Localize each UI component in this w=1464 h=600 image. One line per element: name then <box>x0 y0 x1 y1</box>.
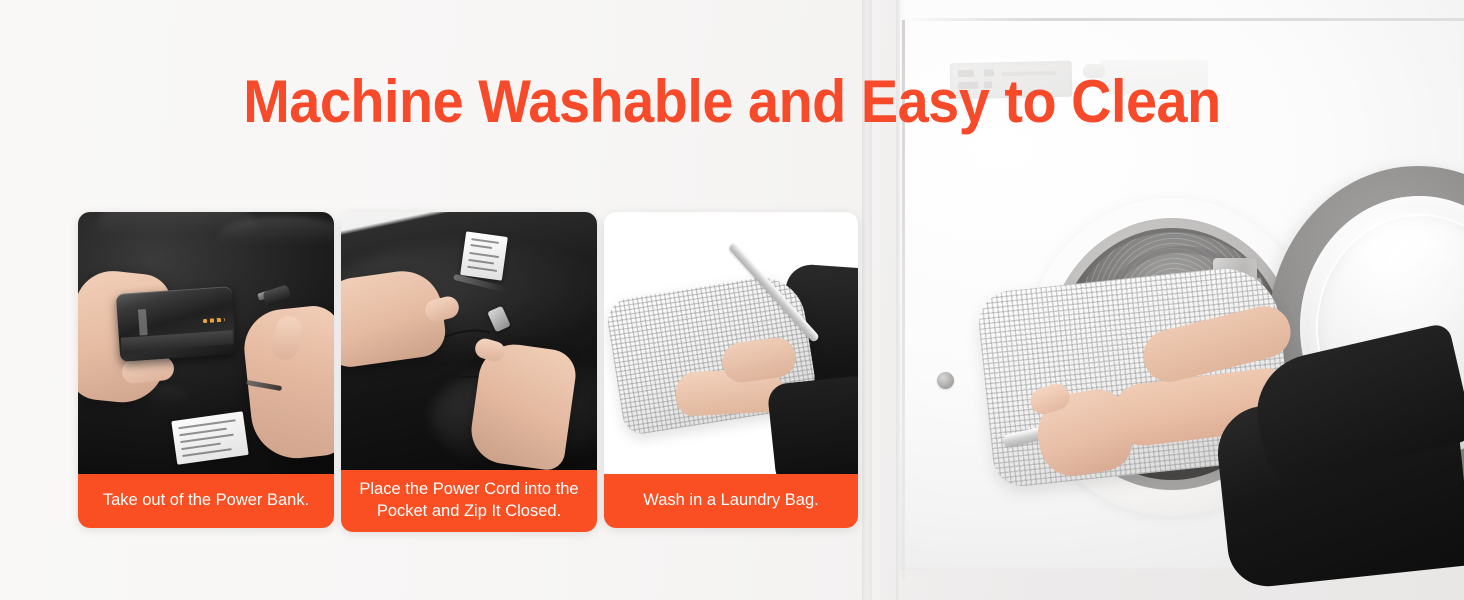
power-bank-brand-mark <box>138 309 148 335</box>
step-caption-2: Place the Power Cord into the Pocket and… <box>341 470 597 532</box>
care-label-tag <box>460 231 508 280</box>
step-caption-1: Take out of the Power Bank. <box>78 474 334 528</box>
hand-right <box>467 340 579 470</box>
step-photo-2 <box>341 212 597 470</box>
step-card-2[interactable]: Place the Power Cord into the Pocket and… <box>341 212 597 532</box>
black-sleeve-lower <box>767 375 858 474</box>
step-caption-3: Wash in a Laundry Bag. <box>604 474 858 528</box>
banner-title: Machine Washable and Easy to Clean <box>51 72 1413 132</box>
washing-machine-top-edge <box>900 18 1464 21</box>
step-card-3[interactable]: Wash in a Laundry Bag. <box>604 212 858 528</box>
step-photo-3 <box>604 212 858 474</box>
step-card-1[interactable]: Take out of the Power Bank. <box>78 212 334 528</box>
machine-washable-banner: Machine Washable and Easy to Clean <box>0 0 1464 600</box>
power-bank-band <box>121 330 234 352</box>
step-photo-1 <box>78 212 334 474</box>
power-bank-device <box>116 286 236 362</box>
power-bank-led-indicators <box>203 318 225 324</box>
door-lock-icon <box>937 372 954 389</box>
